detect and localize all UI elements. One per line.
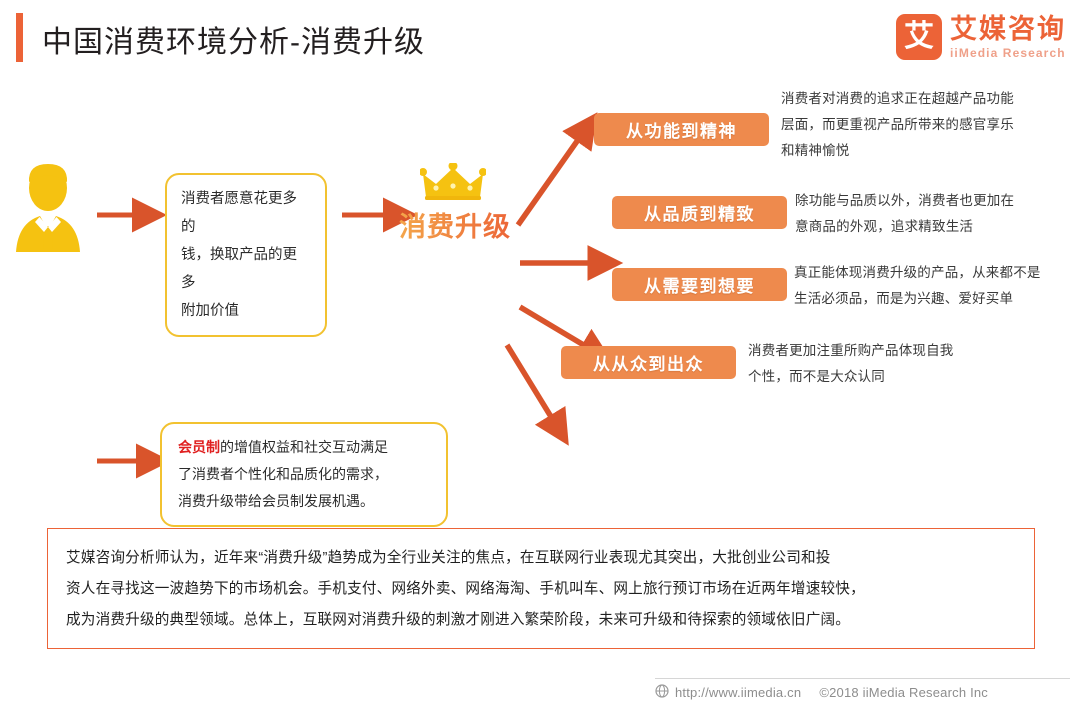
summary-box: 艾媒咨询分析师认为，近年来“消费升级”趋势成为全行业关注的焦点，在互联网行业表现… (47, 528, 1035, 649)
branch-pill-3[interactable]: 从需要到想要 (612, 268, 787, 301)
branch-desc-1-line-1: 消费者对消费的追求正在超越产品功能 (781, 86, 1080, 112)
branch-pill-1[interactable]: 从功能到精神 (594, 113, 769, 146)
branch-desc-2-line-1: 除功能与品质以外，消费者也更加在 (795, 188, 1080, 214)
membership-line-2: 了消费者个性化和品质化的需求， (178, 461, 430, 488)
logo-text: 艾媒咨询 iiMedia Research (950, 16, 1066, 59)
summary-line-1: 艾媒咨询分析师认为，近年来“消费升级”趋势成为全行业关注的焦点，在互联网行业表现… (66, 543, 1016, 574)
summary-line-2: 资人在寻找这一波趋势下的市场机会。手机支付、网络外卖、网络海淘、手机叫车、网上旅… (66, 574, 1016, 605)
globe-icon (655, 684, 669, 701)
intro-callout-box: 消费者愿意花更多的 钱，换取产品的更多 附加价值 (165, 173, 327, 337)
branch-desc-3-line-1: 真正能体现消费升级的产品，从来都不是 (794, 260, 1080, 286)
branch-desc-4-line-1: 消费者更加注重所购产品体现自我 (748, 338, 1048, 364)
intro-line-1: 消费者愿意花更多的 (181, 185, 311, 241)
title-accent-bar (16, 13, 23, 62)
arrow-person-to-intro (95, 200, 155, 230)
intro-line-2: 钱，换取产品的更多 (181, 241, 311, 297)
arrow-branch-1 (518, 137, 580, 225)
footer-divider (655, 678, 1070, 679)
page-title: 中国消费环境分析-消费升级 (42, 17, 425, 61)
footer-copyright: ©2018 iiMedia Research Inc (819, 685, 988, 700)
center-node-label: 消费升级 (395, 205, 515, 244)
logo-name-en: iiMedia Research (950, 47, 1066, 59)
intro-line-3: 附加价值 (181, 297, 311, 325)
membership-line-1: 会员制的增值权益和社交互动满足 (178, 434, 430, 461)
branch-desc-1-line-3: 和精神愉悦 (781, 138, 1080, 164)
branch-desc-2: 除功能与品质以外，消费者也更加在 意商品的外观，追求精致生活 (795, 188, 1080, 240)
summary-line-3: 成为消费升级的典型领域。总体上，互联网对消费升级的刺激才刚进入繁荣阶段，未来可升… (66, 605, 1016, 636)
branch-desc-3-line-2: 生活必须品，而是为兴趣、爱好买单 (794, 286, 1080, 312)
footer: http://www.iimedia.cn ©2018 iiMedia Rese… (655, 684, 1075, 701)
membership-line-1-rest: 的增值权益和社交互动满足 (220, 439, 388, 455)
arrow-branch-4 (507, 345, 553, 420)
branch-desc-1: 消费者对消费的追求正在超越产品功能 层面，而更重视产品所带来的感官享乐 和精神愉… (781, 86, 1080, 164)
branch-desc-4: 消费者更加注重所购产品体现自我 个性，而不是大众认同 (748, 338, 1048, 390)
branch-desc-3: 真正能体现消费升级的产品，从来都不是 生活必须品，而是为兴趣、爱好买单 (794, 260, 1080, 312)
brand-logo: 艾 艾媒咨询 iiMedia Research (896, 14, 1066, 60)
slide-canvas: 中国消费环境分析-消费升级 艾 艾媒咨询 iiMedia Research (0, 0, 1080, 708)
membership-callout-box: 会员制的增值权益和社交互动满足 了消费者个性化和品质化的需求， 消费升级带给会员… (160, 422, 448, 527)
branch-pill-4[interactable]: 从从众到出众 (561, 346, 736, 379)
branch-desc-4-line-2: 个性，而不是大众认同 (748, 364, 1048, 390)
footer-url[interactable]: http://www.iimedia.cn (675, 685, 801, 700)
membership-line-3: 消费升级带给会员制发展机遇。 (178, 488, 430, 515)
branch-desc-1-line-2: 层面，而更重视产品所带来的感官享乐 (781, 112, 1080, 138)
logo-mark-icon: 艾 (896, 14, 942, 60)
branch-pill-2[interactable]: 从品质到精致 (612, 196, 787, 229)
arrow-to-membership (95, 448, 165, 474)
businessman-icon (8, 160, 88, 260)
membership-highlight: 会员制 (178, 439, 220, 455)
arrow-branch-3 (520, 307, 587, 347)
branch-desc-2-line-2: 意商品的外观，追求精致生活 (795, 214, 1080, 240)
crown-icon (420, 163, 486, 203)
logo-name-cn: 艾媒咨询 (950, 16, 1066, 43)
